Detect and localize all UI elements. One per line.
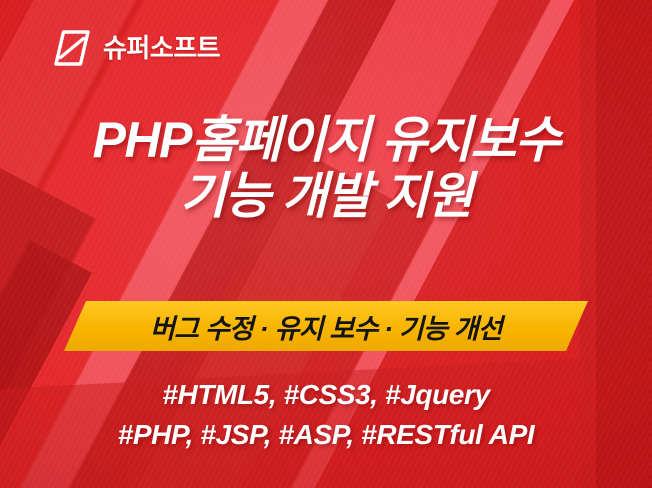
highlight-ribbon: 버그 수정 · 유지 보수 · 기능 개선 [64, 301, 588, 351]
banner-content: 슈퍼소프트 PHP홈페이지 유지보수 기능 개발 지원 버그 수정 · 유지 보… [0, 0, 652, 488]
brand-name-text: 슈퍼소프트 [103, 35, 220, 61]
tech-hashtags: #HTML5, #CSS3, #Jquery #PHP, #JSP, #ASP,… [0, 375, 652, 455]
promo-banner: 슈퍼소프트 PHP홈페이지 유지보수 기능 개발 지원 버그 수정 · 유지 보… [0, 0, 652, 488]
hashtag-line-1: #HTML5, #CSS3, #Jquery [0, 375, 652, 415]
headline-line-2: 기능 개발 지원 [0, 168, 652, 224]
hashtag-line-2: #PHP, #JSP, #ASP, #RESTful API [0, 415, 652, 455]
ribbon-text: 버그 수정 · 유지 보수 · 기능 개선 [64, 301, 588, 351]
brand-logo: 슈퍼소프트 [52, 30, 220, 66]
headline: PHP홈페이지 유지보수 기능 개발 지원 [0, 112, 652, 224]
parallelogram-slash-logo-icon [52, 30, 92, 66]
headline-line-1: PHP홈페이지 유지보수 [0, 112, 652, 168]
